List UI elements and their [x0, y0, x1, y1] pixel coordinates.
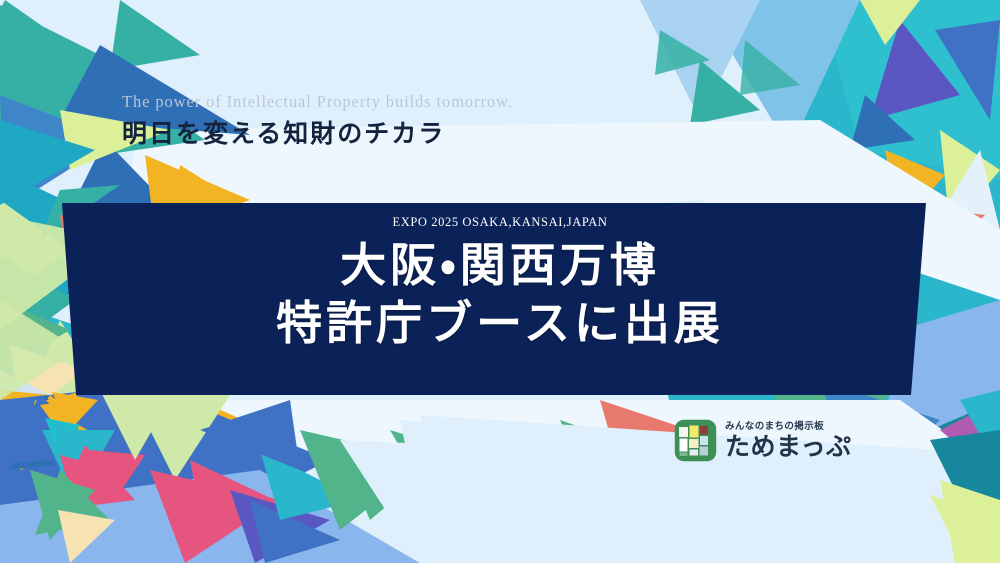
tagline-block: The power of Intellectual Property build… [122, 92, 682, 149]
tagline-japanese: 明日を変える知財のチカラ [122, 118, 682, 149]
bulletin-board-icon [674, 419, 717, 462]
poster-canvas: The power of Intellectual Property build… [0, 0, 1000, 563]
logo-tagline: みんなのまちの掲示板 [725, 422, 852, 432]
logo-text-column: みんなのまちの掲示板 ためまっぷ [725, 422, 852, 460]
headline-banner-shape [0, 195, 1000, 405]
tagline-english: The power of Intellectual Property build… [122, 92, 682, 112]
tamemap-logo[interactable]: みんなのまちの掲示板 ためまっぷ [674, 419, 852, 462]
logo-wordmark: ためまっぷ [725, 434, 852, 459]
